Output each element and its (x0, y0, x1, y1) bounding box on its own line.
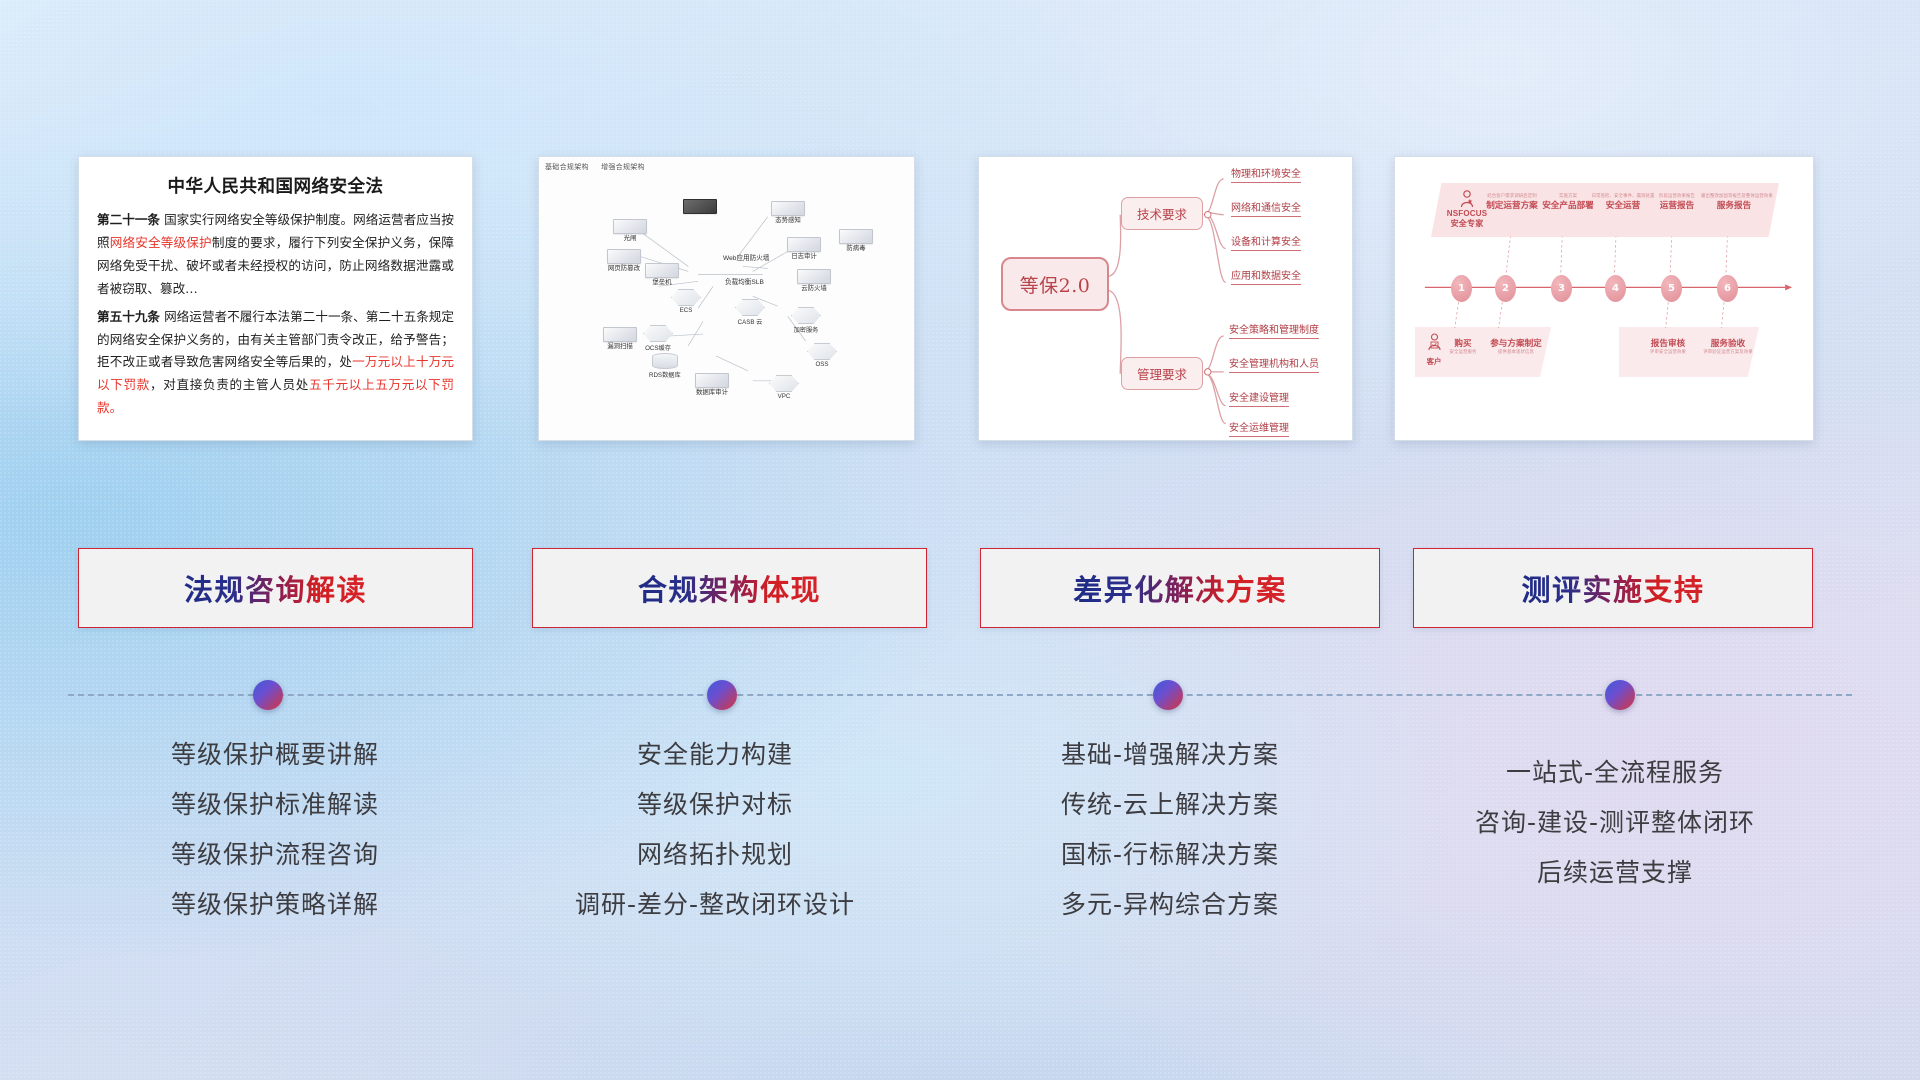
node-box (645, 263, 679, 278)
bottom-step-report-review: 报告审核 评审安全运营效果 (1637, 337, 1699, 355)
top-step-3: 日常巡检、安全事件、漏洞处置 安全运营 (1591, 193, 1655, 211)
timeline-node-2[interactable]: 2 (1495, 275, 1516, 302)
mindmap-leaf-physical-env: 物理和环境安全 (1231, 165, 1301, 183)
bullet-3-1: 基础-增强解决方案 (955, 742, 1385, 767)
mindmap-leaf-org-personnel: 安全管理机构和人员 (1229, 355, 1319, 373)
timeline-marker-3[interactable] (1153, 680, 1183, 710)
node-label: 负载均衡SLB (725, 279, 764, 286)
top-step-2: 实施方案 安全产品部署 (1537, 193, 1599, 211)
heading-box-differentiated-solution[interactable]: 差异化解决方案 (980, 548, 1380, 628)
brand-line-2: 安全专家 (1439, 218, 1495, 229)
mindmap-branch-management: 管理要求 (1121, 357, 1203, 390)
node-label: Web应用防火墙 (723, 255, 769, 262)
timeline-node-5[interactable]: 5 (1661, 275, 1682, 302)
node-label: CASB 云 (738, 319, 763, 326)
mindmap-branch-technical: 技术要求 (1121, 197, 1203, 230)
node-label: 安全管家 (687, 215, 713, 222)
mindmap-root: 等保2.0 (1001, 257, 1109, 311)
bullet-column-4: 一站式-全流程服务 咨询-建设-测评整体闭环 后续运营支撑 (1400, 760, 1830, 910)
bottom-step-participate: 参与方案制定 提供基本现状信息 (1483, 337, 1549, 355)
heading-label-4: 测评实施支持 (1521, 567, 1704, 609)
node-label: ECS (680, 307, 693, 314)
node-situational-awareness: 态势感知 (771, 201, 805, 225)
node-guangzha: 光闸 (613, 219, 647, 243)
top-step-5: 输出整改加固等报告及整体运营效果 服务报告 (1701, 193, 1767, 211)
node-label: 云防火墙 (801, 285, 827, 292)
mindmap-leaf-network-comm: 网络和通信安全 (1231, 199, 1301, 217)
bullet-1-3: 等级保护流程咨询 (60, 842, 490, 867)
cards-row: 中华人民共和国网络安全法 第二十一条 国家实行网络安全等级保护制度。网络运营者应… (0, 152, 1920, 442)
timeline-marker-1[interactable] (253, 680, 283, 710)
node-box (607, 249, 641, 264)
architecture-connector-lines (539, 157, 914, 440)
top-step-1: 结合客户需求调研后定制 制定运营方案 (1479, 193, 1545, 211)
node-load-balancer: 负载均衡SLB (725, 279, 764, 287)
bullet-column-1: 等级保护概要讲解 等级保护标准解读 等级保护流程咨询 等级保护策略详解 (60, 742, 490, 942)
top-step-2-title: 安全产品部署 (1537, 199, 1599, 211)
node-label: RDS数据库 (649, 372, 681, 379)
node-database-audit: 数据库审计 (695, 373, 729, 397)
cylinder-shape (652, 353, 678, 369)
bottom-step-purchase-title: 购买 (1443, 337, 1483, 349)
node-box (787, 237, 821, 252)
node-security-expert: 安全管家 (683, 199, 717, 223)
top-step-5-title: 服务报告 (1701, 199, 1767, 211)
heading-box-assessment-support[interactable]: 测评实施支持 (1413, 548, 1813, 628)
node-antivirus: 防病毒 (839, 229, 873, 253)
article-59-label: 第五十九条 (97, 309, 160, 324)
node-box (683, 199, 717, 214)
heading-label-2: 合规架构体现 (638, 567, 821, 609)
node-label: OSS (815, 361, 828, 368)
node-label: 防病毒 (846, 245, 865, 252)
bullet-4-3: 后续运营支撑 (1400, 860, 1830, 885)
mindmap-leaf-ops-mgmt: 安全运维管理 (1229, 419, 1289, 437)
bottom-step-purchase: 购买 安全运营服务 (1443, 337, 1483, 355)
timeline-node-1[interactable]: 1 (1451, 275, 1472, 302)
bullet-1-1: 等级保护概要讲解 (60, 742, 490, 767)
card-cybersecurity-law[interactable]: 中华人民共和国网络安全法 第二十一条 国家实行网络安全等级保护制度。网络运营者应… (78, 156, 473, 441)
mindmap-leaf-device-compute: 设备和计算安全 (1231, 233, 1301, 251)
bottom-step-service-acceptance-sub: 评审验证运营方案及效果 (1695, 349, 1761, 355)
architecture-diagram: 基础合规架构 增强合规架构 (539, 157, 914, 440)
top-step-4-title: 运营报告 (1647, 199, 1707, 211)
hexagon-shape (735, 299, 765, 316)
mindmap-diagram: 等保2.0 技术要求 管理要求 物理和环境安全 网络和通信安全 设备和计算安全 … (979, 157, 1352, 440)
bottom-step-participate-title: 参与方案制定 (1483, 337, 1549, 349)
node-box (839, 229, 873, 244)
bullet-2-1: 安全能力构建 (500, 742, 930, 767)
nsfocus-timeline-diagram: NSFOCUS 安全专家 结合客户需求调研后定制 制定运营方案 实施方案 安全产… (1395, 157, 1813, 440)
law-article-59: 第五十九条 网络运营者不履行本法第二十一条、第二十五条规定的网络安全保护义务的，… (97, 306, 454, 421)
top-step-3-title: 安全运营 (1591, 199, 1655, 211)
law-article-21: 第二十一条 国家实行网络安全等级保护制度。网络运营者应当按照网络安全等级保护制度… (97, 209, 454, 301)
bottom-step-report-review-sub: 评审安全运营效果 (1637, 349, 1699, 355)
article-59-text-b: ，对直接负责的主管人员处 (150, 377, 309, 392)
bullet-4-1: 一站式-全流程服务 (1400, 760, 1830, 785)
expert-person-icon (1459, 190, 1475, 208)
hexagon-shape (769, 375, 799, 392)
mindmap-leaf-app-data: 应用和数据安全 (1231, 267, 1301, 285)
bottom-step-report-review-title: 报告审核 (1637, 337, 1699, 349)
node-bastion-host: 堡垒机 (645, 263, 679, 287)
node-ecs: ECS (671, 289, 701, 314)
node-oss: OSS (807, 343, 837, 368)
node-box (613, 219, 647, 234)
node-cloud-firewall: 云防火墙 (797, 269, 831, 293)
bottom-step-participate-sub: 提供基本现状信息 (1483, 349, 1549, 355)
card-compliance-architecture[interactable]: 基础合规架构 增强合规架构 (538, 156, 915, 441)
bullet-1-4: 等级保护策略详解 (60, 892, 490, 917)
heading-box-regulation-consulting[interactable]: 法规咨询解读 (78, 548, 473, 628)
node-box (797, 269, 831, 284)
bottom-step-service-acceptance: 服务验收 评审验证运营方案及效果 (1695, 337, 1761, 355)
node-casb-cloud: CASB 云 (735, 299, 765, 326)
node-label: 日志审计 (791, 253, 817, 260)
card-mindmap-dengbao[interactable]: 等保2.0 技术要求 管理要求 物理和环境安全 网络和通信安全 设备和计算安全 … (978, 156, 1353, 441)
heading-label-1: 法规咨询解读 (184, 567, 367, 609)
law-title: 中华人民共和国网络安全法 (97, 173, 454, 198)
node-rds-database: RDS数据库 (649, 353, 681, 379)
timeline-node-3[interactable]: 3 (1551, 275, 1572, 302)
hexagon-shape (643, 325, 673, 342)
node-label: 堡垒机 (652, 279, 671, 286)
bullet-2-3: 网络拓扑规划 (500, 842, 930, 867)
node-label: 光闸 (624, 235, 637, 242)
bullet-column-2: 安全能力构建 等级保护对标 网络拓扑规划 调研-差分-整改闭环设计 (500, 742, 930, 942)
bottom-step-service-acceptance-title: 服务验收 (1695, 337, 1761, 349)
node-log-audit: 日志审计 (787, 237, 821, 261)
bullet-4-2: 咨询-建设-测评整体闭环 (1400, 810, 1830, 835)
node-label: 网页防篡改 (608, 265, 640, 272)
node-ocs-cache: OCS缓存 (643, 325, 673, 352)
node-vulnerability-scan: 漏洞扫描 (603, 327, 637, 351)
mindmap-leaf-construction-mgmt: 安全建设管理 (1229, 389, 1289, 407)
node-box (603, 327, 637, 342)
node-label: VPC (778, 393, 791, 400)
top-step-4: 阶段运营效果报告 运营报告 (1647, 193, 1707, 211)
heading-label-3: 差异化解决方案 (1073, 567, 1287, 609)
customer-person-icon (1427, 333, 1442, 351)
timeline-node-4[interactable]: 4 (1605, 275, 1626, 302)
timeline-marker-4[interactable] (1605, 680, 1635, 710)
hexagon-shape (671, 289, 701, 306)
node-web-tamper-proof: 网页防篡改 (607, 249, 641, 273)
hexagon-shape (791, 307, 821, 324)
bullet-3-3: 国标-行标解决方案 (955, 842, 1385, 867)
bullet-2-4: 调研-差分-整改闭环设计 (500, 892, 930, 917)
timeline-marker-2[interactable] (707, 680, 737, 710)
timeline-node-6[interactable]: 6 (1717, 275, 1738, 302)
hexagon-shape (807, 343, 837, 360)
bullet-column-3: 基础-增强解决方案 传统-云上解决方案 国标-行标解决方案 多元-异构综合方案 (955, 742, 1385, 942)
bullet-1-2: 等级保护标准解读 (60, 792, 490, 817)
node-box (695, 373, 729, 388)
bullet-3-2: 传统-云上解决方案 (955, 792, 1385, 817)
node-label: 数据库审计 (696, 389, 728, 396)
bottom-step-purchase-sub: 安全运营服务 (1443, 349, 1483, 355)
heading-box-compliance-architecture[interactable]: 合规架构体现 (532, 548, 927, 628)
node-encryption-service: 加密服务 (791, 307, 821, 334)
node-label: 加密服务 (794, 327, 819, 334)
customer-label: 客户 (1427, 357, 1442, 366)
bullet-3-4: 多元-异构综合方案 (955, 892, 1385, 917)
article-21-highlight: 网络安全等级保护 (110, 235, 212, 250)
node-label: OCS缓存 (645, 345, 671, 352)
node-label: 漏洞扫描 (607, 343, 633, 350)
node-box (771, 201, 805, 216)
card-nsfocus-service-timeline[interactable]: NSFOCUS 安全专家 结合客户需求调研后定制 制定运营方案 实施方案 安全产… (1394, 156, 1814, 441)
bullet-2-2: 等级保护对标 (500, 792, 930, 817)
node-vpc: VPC (769, 375, 799, 400)
top-step-1-title: 制定运营方案 (1479, 199, 1545, 211)
timeline-dashed-line (68, 694, 1852, 696)
node-web-application-firewall: Web应用防火墙 (723, 255, 769, 263)
law-text-block: 中华人民共和国网络安全法 第二十一条 国家实行网络安全等级保护制度。网络运营者应… (79, 157, 472, 435)
node-label: 态势感知 (775, 217, 801, 224)
article-21-label: 第二十一条 (97, 212, 160, 227)
mindmap-leaf-policy-system: 安全策略和管理制度 (1229, 321, 1319, 339)
